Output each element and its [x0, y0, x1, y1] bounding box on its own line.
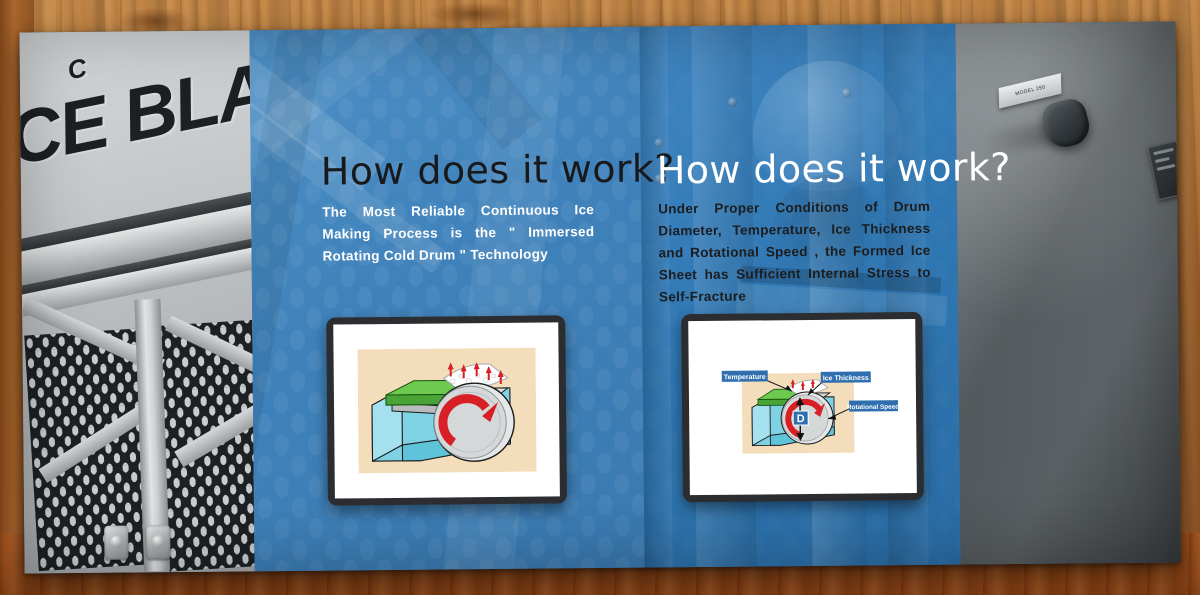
left-heading: How does it work?	[321, 146, 675, 193]
left-diagram-mat	[333, 322, 560, 498]
right-photo: MODEL 250	[955, 21, 1180, 564]
label-temperature: Temperature	[721, 370, 767, 381]
right-heading: How does it work?	[657, 145, 1011, 192]
left-body-text: The Most Reliable Continuous Ice Making …	[322, 199, 595, 268]
door-latch[interactable]	[146, 525, 170, 559]
left-diagram-image	[357, 348, 536, 474]
door-latch[interactable]	[104, 526, 128, 560]
svg-text:Temperature: Temperature	[723, 374, 765, 381]
brochure-card: C CE BLA	[19, 21, 1180, 573]
right-body-text: Under Proper Conditions of Drum Diameter…	[658, 196, 931, 309]
left-diagram-frame[interactable]	[326, 315, 567, 505]
svg-text:Ice Thickness: Ice Thickness	[822, 375, 868, 382]
right-diagram-frame[interactable]: D Temperature Ice Thickness	[681, 312, 924, 502]
right-diagram-mat: D Temperature Ice Thickness	[688, 319, 917, 495]
svg-text:D: D	[796, 413, 804, 425]
svg-text:Rotational Speed: Rotational Speed	[846, 404, 898, 412]
poster-scene: C CE BLA	[0, 0, 1200, 595]
label-rotational-speed: Rotational Speed	[846, 400, 898, 412]
label-ice-thickness: Ice Thickness	[820, 371, 870, 382]
right-diagram-image: D Temperature Ice Thickness	[707, 342, 898, 472]
label-tag-text: MODEL 250	[1014, 84, 1045, 97]
left-photo: C CE BLA	[19, 30, 254, 573]
